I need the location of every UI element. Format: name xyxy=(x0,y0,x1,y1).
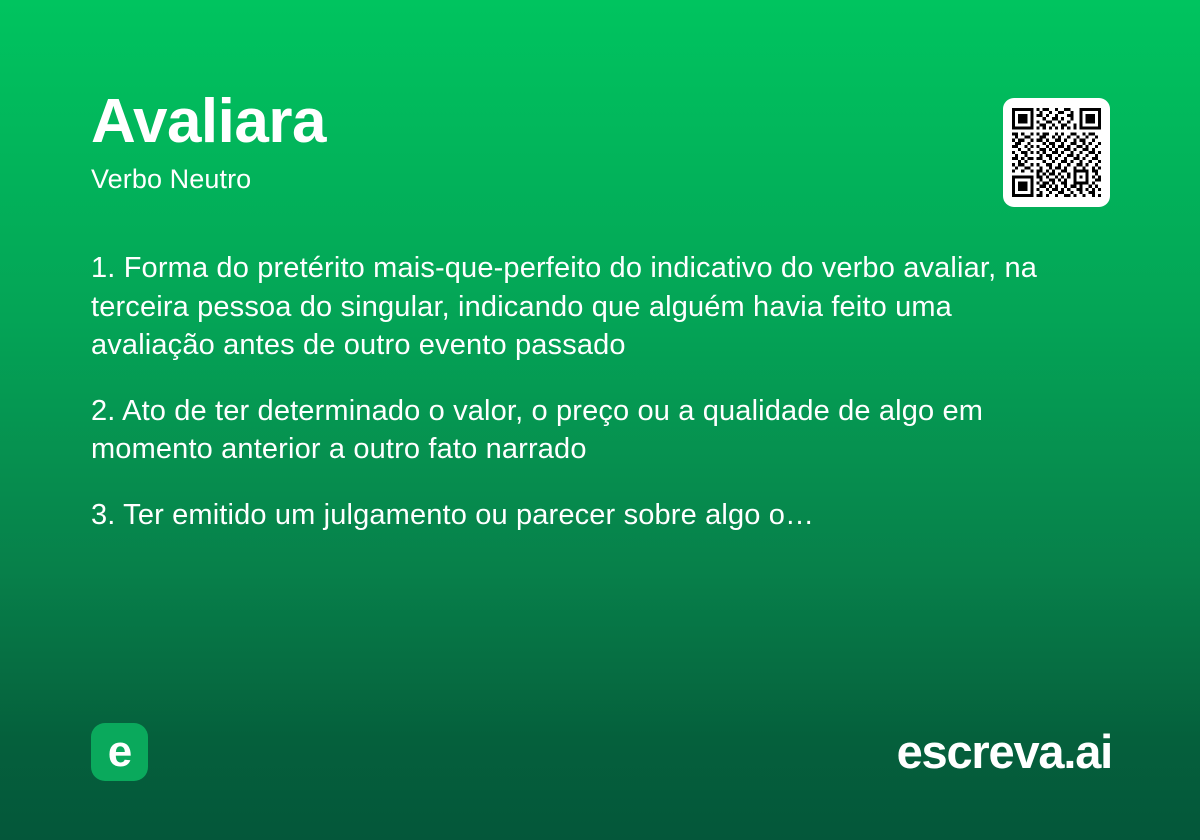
brand-logo-letter: e xyxy=(91,723,148,781)
brand-logo: e xyxy=(91,723,148,781)
qr-code-icon xyxy=(1012,107,1101,198)
definition-item: 1. Forma do pretérito mais-que-perfeito … xyxy=(91,249,1066,365)
definition-item: 3. Ter emitido um julgamento ou parecer … xyxy=(91,496,1066,535)
page-title: Avaliara xyxy=(91,86,1109,158)
word-class-label: Verbo Neutro xyxy=(91,162,1109,196)
definition-item: 2. Ato de ter determinado o valor, o pre… xyxy=(91,392,1066,469)
dictionary-card: Avaliara Verbo Neutro xyxy=(0,0,1200,840)
card-header: Avaliara Verbo Neutro xyxy=(91,86,1109,196)
definition-list: 1. Forma do pretérito mais-que-perfeito … xyxy=(91,249,1066,534)
qr-code-card[interactable] xyxy=(1003,98,1110,207)
brand-wordmark: escreva.ai xyxy=(897,723,1112,781)
